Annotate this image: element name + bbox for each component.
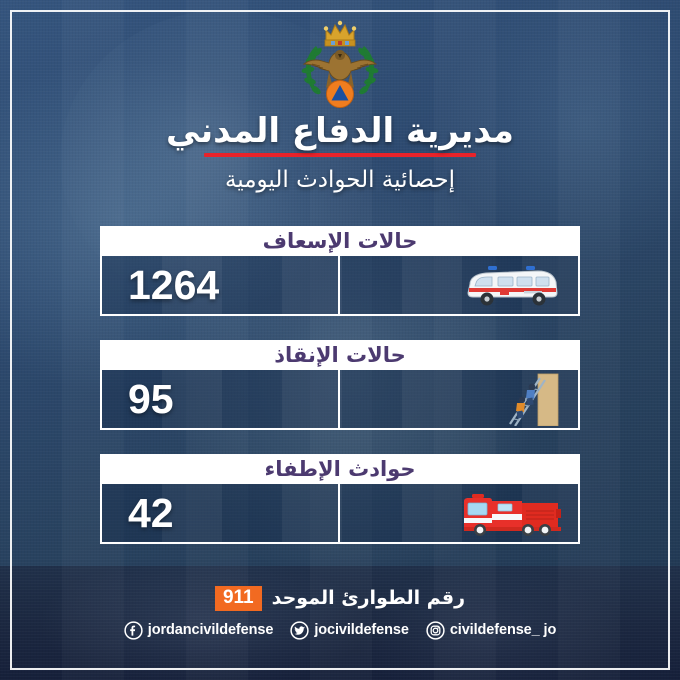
footer: رقم الطوارئ الموحد 911 jordancivildefens… xyxy=(0,586,680,640)
social-handle: jordancivildefense xyxy=(148,622,274,638)
title-block: مديرية الدفاع المدني إحصائية الحوادث الي… xyxy=(0,112,680,193)
statistics-cards: حالات الإسعاف 1264 xyxy=(100,226,580,544)
stat-card-header: حالات الإنقاذ xyxy=(100,340,580,370)
stat-card-fire: حوادث الإطفاء 42 xyxy=(100,454,580,544)
stat-card-title: حوادث الإطفاء xyxy=(264,459,415,480)
social-links-row: jordancivildefense jocivildefense xyxy=(0,621,680,640)
stat-card-title: حالات الإسعاف xyxy=(263,231,418,252)
emergency-number-badge: 911 xyxy=(215,586,262,611)
stat-value: 95 xyxy=(128,379,174,420)
page-title: مديرية الدفاع المدني xyxy=(0,112,680,150)
jordan-civil-defense-emblem xyxy=(282,14,398,112)
fire-truck-icon xyxy=(456,489,564,537)
stat-value: 42 xyxy=(128,493,174,534)
page-subtitle: إحصائية الحوادث اليومية xyxy=(0,167,680,193)
stat-value-cell: 1264 xyxy=(102,256,340,314)
social-handle: civildefense_ jo xyxy=(450,622,556,638)
stat-icon-cell xyxy=(340,484,578,542)
social-link-facebook[interactable]: jordancivildefense xyxy=(124,621,274,640)
stat-value: 1264 xyxy=(128,265,219,306)
social-handle: jocivildefense xyxy=(314,622,409,638)
emergency-label: رقم الطوارئ الموحد xyxy=(272,587,465,609)
facebook-icon xyxy=(124,621,143,640)
stat-card-body: 95 xyxy=(100,370,580,430)
stat-card-header: حالات الإسعاف xyxy=(100,226,580,256)
stat-icon-cell xyxy=(340,256,578,314)
emergency-number-row: رقم الطوارئ الموحد 911 xyxy=(0,586,680,611)
social-link-instagram[interactable]: civildefense_ jo xyxy=(426,621,556,640)
stat-value-cell: 42 xyxy=(102,484,340,542)
stat-card-title: حالات الإنقاذ xyxy=(274,345,406,366)
stat-card-rescue: حالات الإنقاذ 95 xyxy=(100,340,580,430)
stat-value-cell: 95 xyxy=(102,370,340,428)
instagram-icon xyxy=(426,621,445,640)
stat-icon-cell xyxy=(340,370,578,428)
ambulance-icon xyxy=(460,262,564,308)
stat-card-header: حوادث الإطفاء xyxy=(100,454,580,484)
stat-card-body: 42 xyxy=(100,484,580,544)
civil-defense-daily-statistics-poster: مديرية الدفاع المدني إحصائية الحوادث الي… xyxy=(0,0,680,680)
twitter-icon xyxy=(290,621,309,640)
title-underline-rule xyxy=(204,153,476,157)
stat-card-ambulance: حالات الإسعاف 1264 xyxy=(100,226,580,316)
rescue-ladder-icon xyxy=(494,372,564,426)
emblem-container xyxy=(0,14,680,112)
stat-card-body: 1264 xyxy=(100,256,580,316)
social-link-twitter[interactable]: jocivildefense xyxy=(290,621,409,640)
